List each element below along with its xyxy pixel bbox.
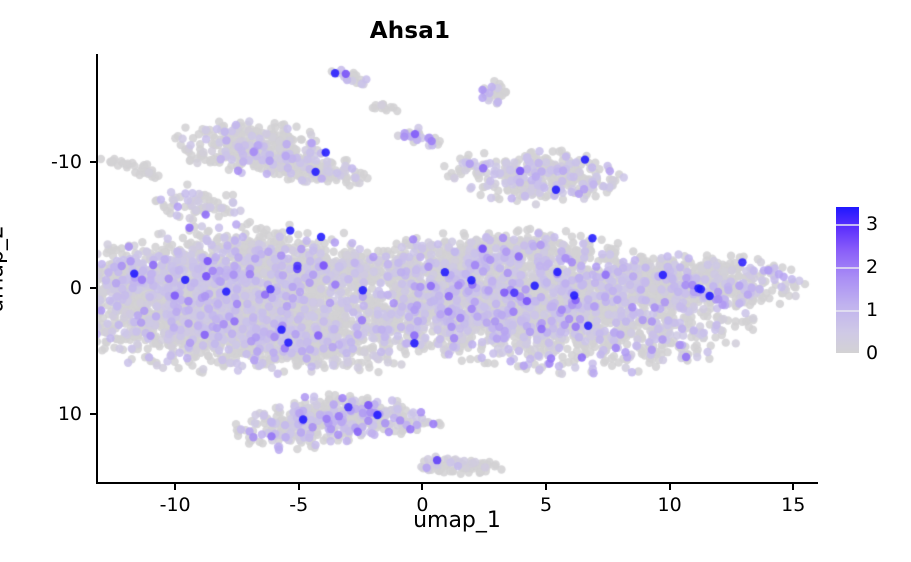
colorbar-tick-label: 0 [866, 342, 878, 364]
x-axis-spine [96, 482, 818, 484]
y-axis-spine [96, 54, 98, 484]
y-tick-label: -10 [51, 151, 82, 173]
x-tick-mark [545, 484, 547, 490]
x-tick-mark [174, 484, 176, 490]
y-axis-label: umap_2 [0, 225, 9, 313]
colorbar-tick-mark [836, 267, 859, 269]
x-tick-mark [669, 484, 671, 490]
x-tick-mark [792, 484, 794, 490]
colorbar-tick-label: 3 [866, 213, 878, 235]
chart-title: Ahsa1 [0, 18, 820, 44]
colorbar-tick-mark [836, 224, 859, 226]
y-tick-mark [90, 413, 96, 415]
scatter-plot-canvas [96, 54, 818, 484]
x-axis-label: umap_1 [96, 508, 818, 533]
colorbar-tick-label: 2 [866, 256, 878, 278]
figure-root: Ahsa1 -10-5051015 100-10 umap_1 umap_2 3… [0, 0, 911, 562]
y-tick-mark [90, 161, 96, 163]
colorbar-gradient [836, 207, 859, 353]
colorbar-tick-label: 1 [866, 299, 878, 321]
plot-axes: -10-5051015 100-10 [96, 54, 818, 484]
colorbar-tick-mark [836, 310, 859, 312]
y-tick-label: 10 [58, 403, 82, 425]
y-tick-label: 0 [70, 277, 82, 299]
y-tick-mark [90, 287, 96, 289]
x-tick-mark [421, 484, 423, 490]
x-tick-mark [298, 484, 300, 490]
